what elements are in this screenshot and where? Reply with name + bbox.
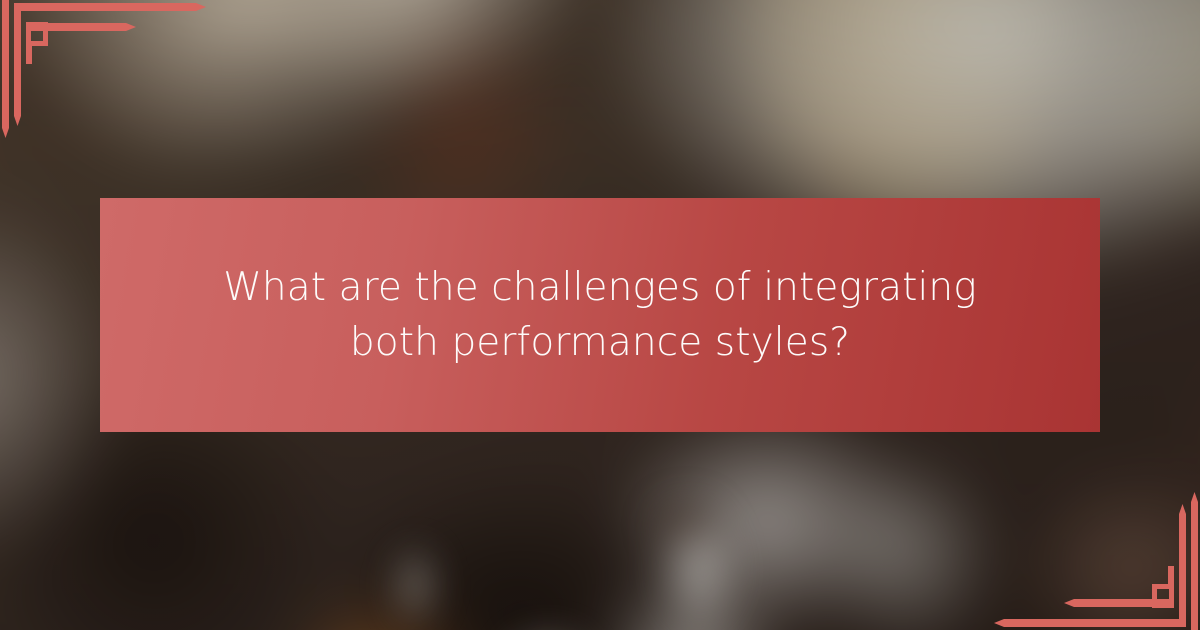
question-banner: What are the challenges of integrating b… — [100, 198, 1100, 432]
question-title: What are the challenges of integrating b… — [220, 260, 980, 371]
social-card: What are the challenges of integrating b… — [0, 0, 1200, 630]
